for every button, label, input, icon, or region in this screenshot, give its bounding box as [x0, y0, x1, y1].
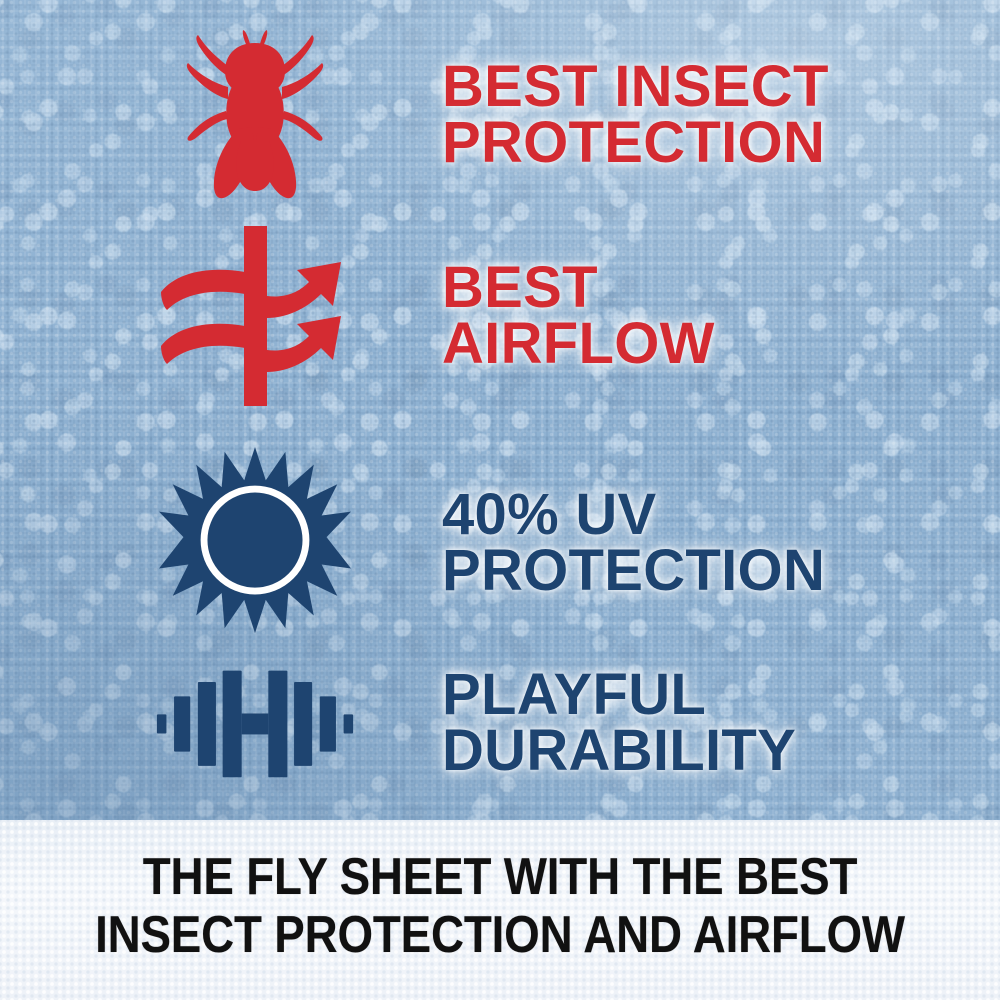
caption-headline: THE FLY SHEET WITH THE BEST INSECT PROTE… [60, 848, 940, 964]
feature-label-durability: PLAYFUL DURABILITY [360, 667, 990, 778]
feature-row-airflow: BEST AIRFLOW [150, 218, 990, 414]
caption-bar: THE FLY SHEET WITH THE BEST INSECT PROTE… [0, 820, 1000, 1000]
infographic-page: BEST INSECT PROTECTION [0, 0, 1000, 1000]
feature-label-insect-protection: BEST INSECT PROTECTION [360, 59, 990, 170]
feature-label-uv-protection: 40% UV PROTECTION [360, 487, 990, 598]
feature-list: BEST INSECT PROTECTION [0, 0, 1000, 820]
fly-icon [150, 20, 360, 210]
feature-row-durability: PLAYFUL DURABILITY [150, 648, 990, 798]
airflow-through-fabric-icon [150, 218, 360, 414]
sun-uv-icon [150, 442, 360, 644]
feature-row-uv-protection: 40% UV PROTECTION [150, 442, 990, 644]
feature-row-insect-protection: BEST INSECT PROTECTION [150, 20, 990, 210]
feature-label-airflow: BEST AIRFLOW [360, 260, 990, 371]
dumbbell-icon [150, 648, 360, 798]
